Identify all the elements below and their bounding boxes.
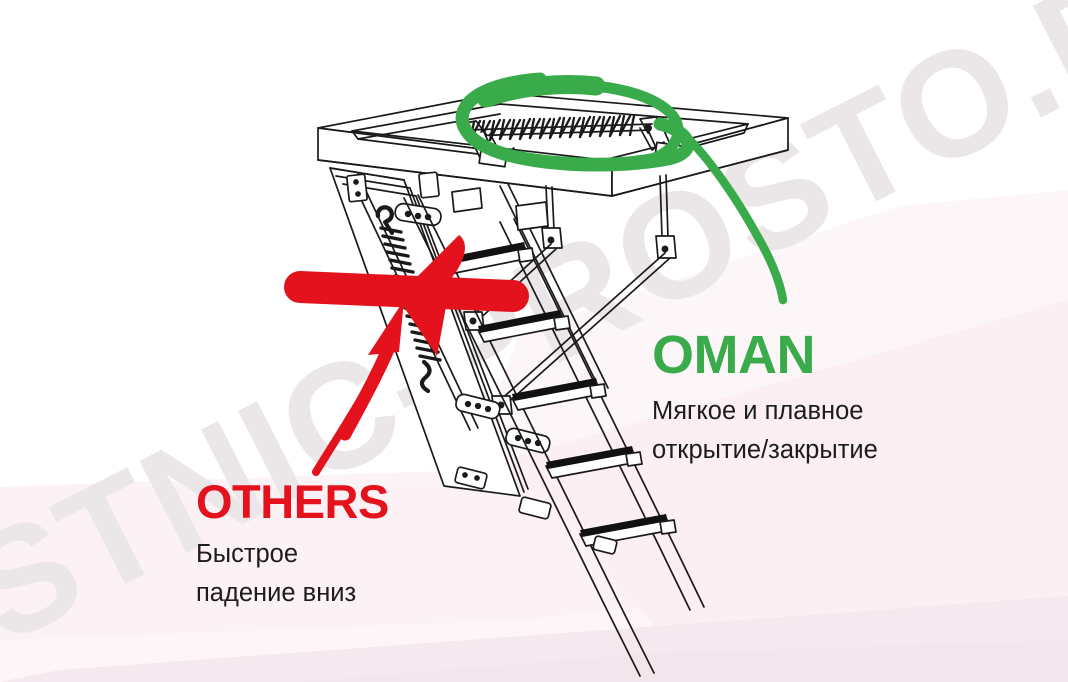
red-arrow-annotation — [300, 235, 513, 472]
green-circle-annotation — [462, 79, 783, 300]
infographic-canvas: LESTNIC-PROSTO.RU — [0, 0, 1068, 682]
annotation-marks — [0, 0, 1068, 682]
